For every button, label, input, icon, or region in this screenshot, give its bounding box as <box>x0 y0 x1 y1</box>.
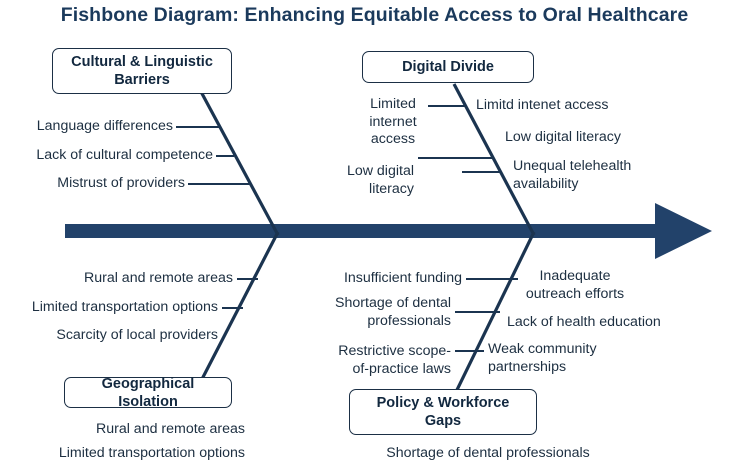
category-box-policy-workforce-gaps[interactable]: Policy & Workforce Gaps <box>349 389 537 435</box>
category-label-geographical-isolation: Geographical Isolation <box>73 375 223 411</box>
cause-low-digital-literacy-left: Low digital literacy <box>320 163 414 198</box>
spine-arrowhead <box>655 203 712 259</box>
cause-weak-community-partnerships: Weak community partnerships <box>488 341 663 376</box>
cause-language-differences: Language differences <box>10 118 173 136</box>
category-box-cultural-linguistic-barriers[interactable]: Cultural & Linguistic Barriers <box>52 48 232 94</box>
cause-restrictive-scope-of-practice-laws: Restrictive scope- of-practice laws <box>306 343 451 378</box>
page-title: Fishbone Diagram: Enhancing Equitable Ac… <box>0 4 749 27</box>
category-label-cultural-linguistic-barriers: Cultural & Linguistic Barriers <box>61 53 223 89</box>
category-box-digital-divide[interactable]: Digital Divide <box>362 51 534 83</box>
cause-limitd-intenet-access: Limitd intenet access <box>476 97 696 115</box>
cause-unequal-telehealth-availability: Unequal telehealth availability <box>513 158 688 193</box>
footer-cause-shortage-of-dental-professionals: Shortage of dental professionals <box>343 444 633 463</box>
cause-limited-transportation-options: Limited transportation options <box>4 299 218 317</box>
fishbone-diagram: Fishbone Diagram: Enhancing Equitable Ac… <box>0 0 749 469</box>
cause-lack-of-cultural-competence: Lack of cultural competence <box>4 147 213 165</box>
cause-inadequate-outreach-efforts: Inadequate outreach efforts <box>510 268 640 303</box>
cause-low-digital-literacy-right: Low digital literacy <box>505 129 695 147</box>
spine-bar <box>65 224 657 238</box>
cause-shortage-of-dental-professionals: Shortage of dental professionals <box>306 295 451 330</box>
cause-scarcity-of-local-providers: Scarcity of local providers <box>38 327 218 345</box>
cause-mistrust-of-providers: Mistrust of providers <box>20 175 185 193</box>
category-label-policy-workforce-gaps: Policy & Workforce Gaps <box>358 394 528 430</box>
cause-lack-of-health-education: Lack of health education <box>507 314 707 332</box>
cause-insufficient-funding: Insufficient funding <box>306 270 462 288</box>
category-label-digital-divide: Digital Divide <box>402 58 494 76</box>
footer-cause-rural-and-remote-areas: Rural and remote areas <box>0 420 245 439</box>
cause-limited-internet-access: Limited internet access <box>360 96 426 149</box>
footer-cause-limited-transportation-options: Limited transportation options <box>0 444 245 463</box>
cause-rural-and-remote-areas: Rural and remote areas <box>55 270 233 288</box>
category-box-geographical-isolation[interactable]: Geographical Isolation <box>64 377 232 408</box>
